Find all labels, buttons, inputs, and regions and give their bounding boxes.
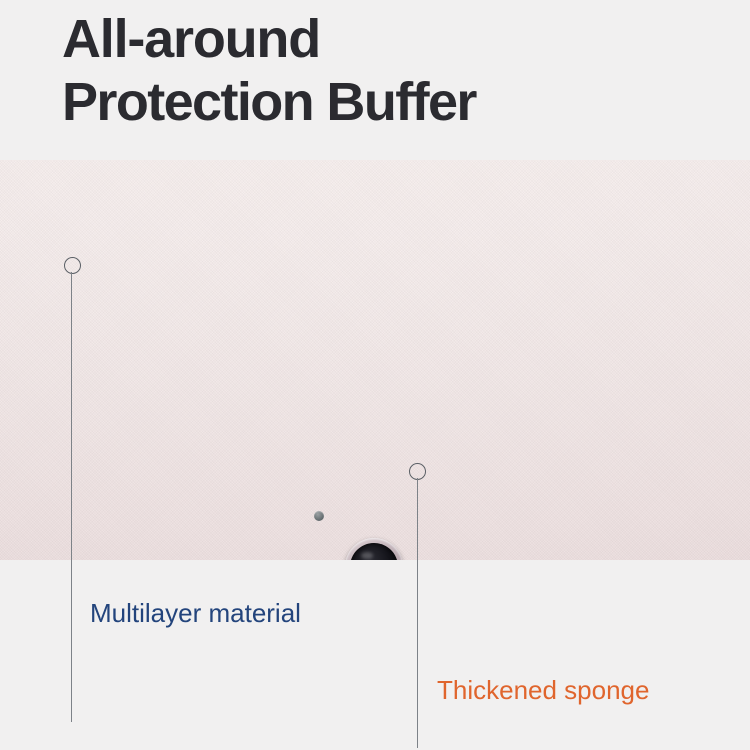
product-photo (0, 160, 750, 560)
callout-line-thickened-sponge (417, 478, 418, 748)
camera-lens-icon (350, 543, 398, 560)
callout-label-multilayer: Multilayer material (90, 598, 301, 629)
callout-line-multilayer (71, 272, 72, 722)
callout-marker-multilayer (64, 257, 81, 274)
headline-line-1: All-around (62, 9, 320, 69)
promo-banner: All-around Protection Buffer (0, 0, 750, 750)
tablet-surface-grain (0, 160, 750, 560)
tablet-back-panel (0, 160, 750, 560)
callout-label-thickened-sponge: Thickened sponge (437, 675, 649, 706)
camera-lens-specular (361, 552, 373, 559)
page-title: All-around Protection Buffer (62, 8, 750, 134)
microphone-dot-icon (314, 511, 324, 521)
headline-line-2: Protection Buffer (62, 71, 750, 134)
photo-inner (0, 160, 750, 560)
